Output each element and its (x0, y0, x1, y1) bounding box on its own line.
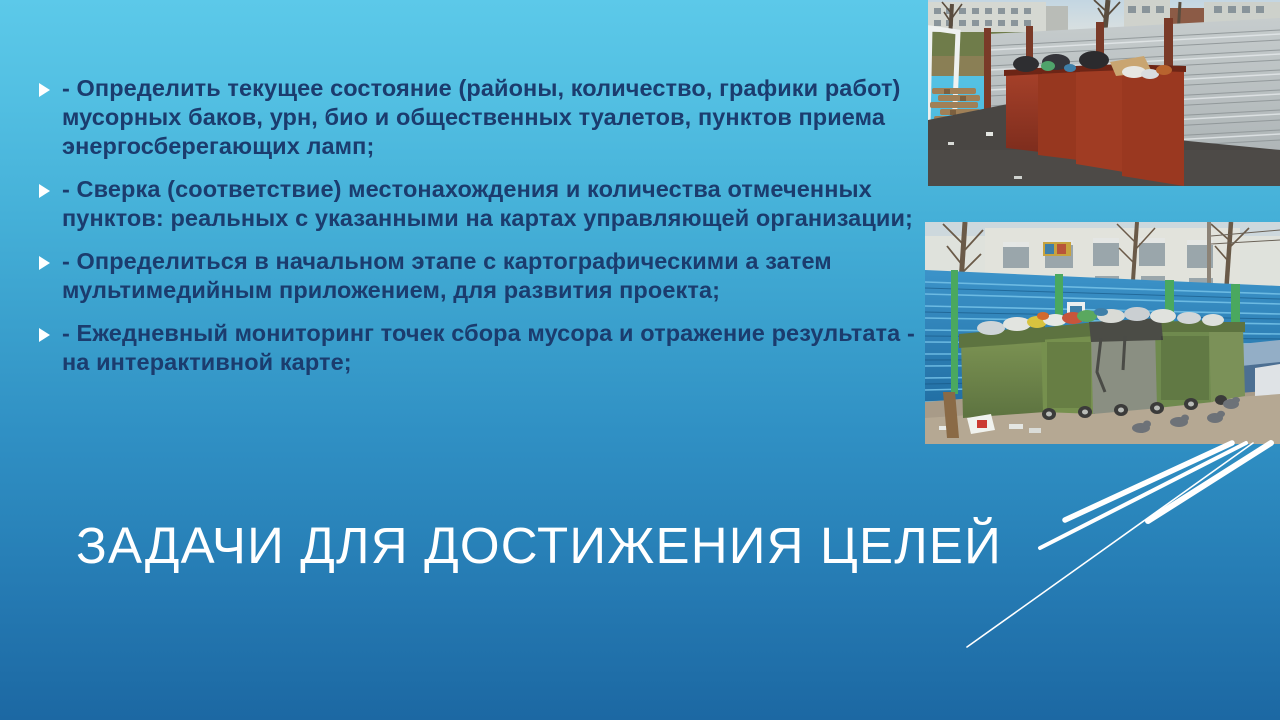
list-item-text: - Определить текущее состояние (районы, … (62, 74, 926, 161)
triangle-bullet-icon (36, 175, 62, 198)
triangle-bullet-icon (36, 74, 62, 97)
photo-red-dumpsters-art (928, 0, 1280, 186)
list-item[interactable]: - Сверка (соответствие) местонахождения … (36, 175, 926, 233)
list-item[interactable]: - Ежедневный мониторинг точек сбора мусо… (36, 319, 926, 377)
photo-green-dumpsters (925, 222, 1280, 444)
photo-red-dumpsters (928, 0, 1280, 186)
streak-4 (1148, 443, 1271, 521)
slide-canvas: - Определить текущее состояние (районы, … (0, 0, 1280, 720)
bullet-list: - Определить текущее состояние (районы, … (36, 74, 926, 391)
list-item[interactable]: - Определиться в начальном этапе с карто… (36, 247, 926, 305)
list-item[interactable]: - Определить текущее состояние (районы, … (36, 74, 926, 161)
photo-green-dumpsters-art (925, 222, 1280, 444)
streak-1 (1065, 443, 1232, 520)
page-title: Задачи для достижения целей (76, 516, 1002, 576)
list-item-text: - Определиться в начальном этапе с карто… (62, 247, 926, 305)
streak-3 (967, 443, 1253, 647)
triangle-bullet-icon (36, 247, 62, 270)
triangle-bullet-icon (36, 319, 62, 342)
list-item-text: - Сверка (соответствие) местонахождения … (62, 175, 926, 233)
list-item-text: - Ежедневный мониторинг точек сбора мусо… (62, 319, 926, 377)
streak-2 (1040, 443, 1246, 548)
